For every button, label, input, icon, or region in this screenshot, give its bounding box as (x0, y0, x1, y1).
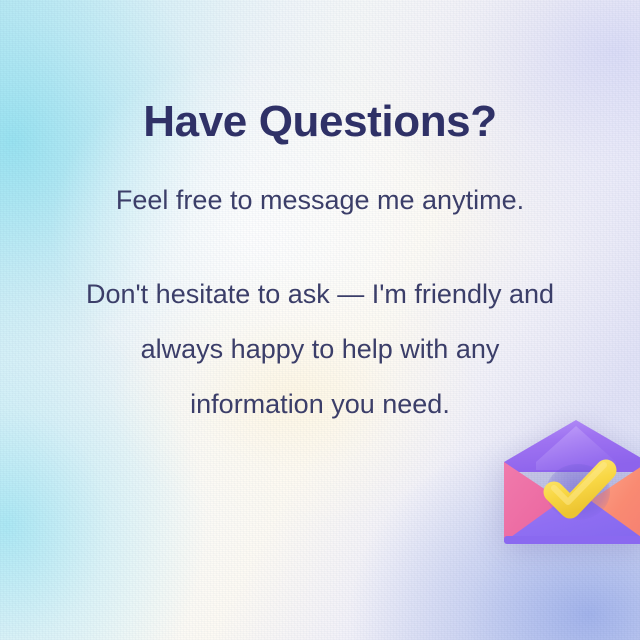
subtitle-text: Feel free to message me anytime. (0, 184, 640, 216)
page-title: Have Questions? (0, 98, 640, 146)
body-line-2: always happy to help with any (0, 322, 640, 377)
body-line-1: Don't hesitate to ask — I'm friendly and (0, 267, 640, 322)
graphic-canvas: Have Questions? Feel free to message me … (0, 0, 640, 640)
body-paragraph: Don't hesitate to ask — I'm friendly and… (0, 267, 640, 432)
envelope-with-checkmark-icon (496, 418, 640, 550)
